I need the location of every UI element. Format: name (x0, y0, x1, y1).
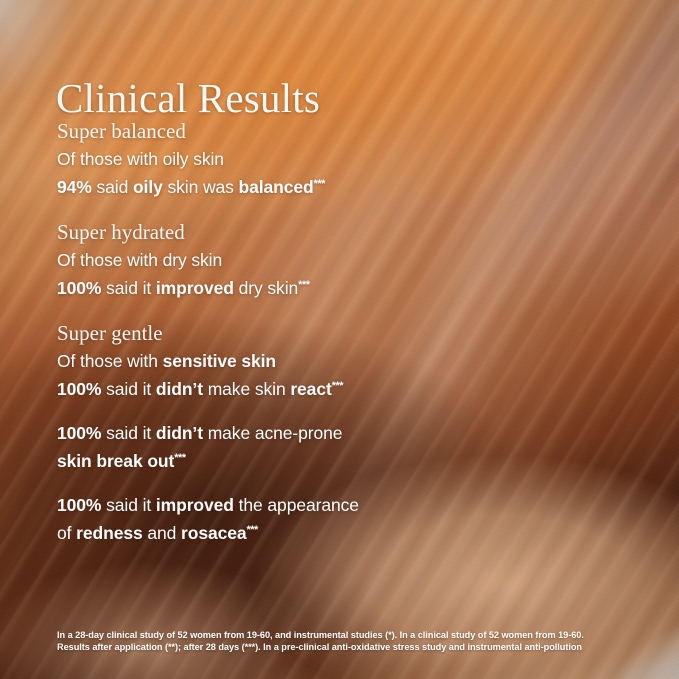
claim-line: 100% said it didn’t make acne-prone (57, 421, 617, 446)
footnote-marker: *** (247, 524, 258, 536)
claim-heading: Super gentle (57, 320, 617, 347)
plain-text: said it (101, 278, 156, 298)
claim-line: 100% said it improved dry skin*** (57, 273, 617, 301)
emphasis-text: didn’t (156, 379, 203, 399)
emphasis-text: 100% (57, 278, 101, 298)
emphasis-text: 100% (57, 495, 101, 515)
plain-text: dry skin (234, 278, 298, 298)
emphasis-text: 100% (57, 379, 101, 399)
plain-text: make acne-prone (203, 423, 342, 443)
emphasis-text: 100% (57, 423, 101, 443)
plain-text: skin was (163, 177, 239, 197)
plain-text: said it (101, 423, 156, 443)
claim-line: Of those with dry skin (57, 248, 617, 273)
footnote-disclaimer: In a 28-day clinical study of 52 women f… (57, 629, 637, 654)
claim-line: of redness and rosacea*** (57, 518, 617, 546)
claims-list: Super balancedOf those with oily skin94%… (57, 118, 617, 565)
plain-text: and (143, 523, 181, 543)
claim-line: 100% said it improved the appearance (57, 493, 617, 518)
plain-text: the appearance (234, 495, 359, 515)
clinical-results-graphic: Clinical Results Super balancedOf those … (0, 0, 679, 679)
plain-text: of (57, 523, 76, 543)
plain-text: Of those with oily skin (57, 149, 224, 169)
claim-line: Of those with sensitive skin (57, 349, 617, 374)
claim-heading: Super balanced (57, 118, 617, 145)
plain-text: said it (101, 379, 156, 399)
claim-heading: Super hydrated (57, 219, 617, 246)
emphasis-text: sensitive skin (163, 351, 276, 371)
footnote-marker: *** (314, 178, 325, 190)
emphasis-text: balanced (239, 177, 314, 197)
claim-block: Super balancedOf those with oily skin94%… (57, 118, 617, 200)
emphasis-text: react (290, 379, 331, 399)
footnote-line-1: In a 28-day clinical study of 52 women f… (57, 629, 637, 641)
plain-text: Of those with dry skin (57, 250, 222, 270)
footnote-marker: *** (174, 452, 185, 464)
claim-block: Super gentleOf those with sensitive skin… (57, 320, 617, 402)
claim-line: Of those with oily skin (57, 147, 617, 172)
claim-block: 100% said it improved the appearanceof r… (57, 493, 617, 546)
content-overlay: Clinical Results Super balancedOf those … (0, 0, 679, 679)
plain-text: make skin (203, 379, 290, 399)
emphasis-text: didn’t (156, 423, 203, 443)
plain-text: Of those with (57, 351, 163, 371)
emphasis-text: improved (156, 278, 234, 298)
emphasis-text: improved (156, 495, 234, 515)
footnote-marker: *** (332, 380, 343, 392)
claim-line: 94% said oily skin was balanced*** (57, 172, 617, 200)
plain-text: said it (101, 495, 156, 515)
claim-block: 100% said it didn’t make acne-proneskin … (57, 421, 617, 474)
emphasis-text: rosacea (181, 523, 246, 543)
claim-line: 100% said it didn’t make skin react*** (57, 374, 617, 402)
plain-text: said (92, 177, 133, 197)
claim-line: skin break out*** (57, 446, 617, 474)
footnote-marker: *** (298, 279, 309, 291)
emphasis-text: 94% (57, 177, 92, 197)
emphasis-text: redness (76, 523, 142, 543)
claim-block: Super hydratedOf those with dry skin100%… (57, 219, 617, 301)
emphasis-text: oily (133, 177, 163, 197)
page-title: Clinical Results (56, 78, 320, 119)
emphasis-text: skin break out (57, 451, 174, 471)
footnote-line-2: Results after application (**); after 28… (57, 641, 637, 653)
